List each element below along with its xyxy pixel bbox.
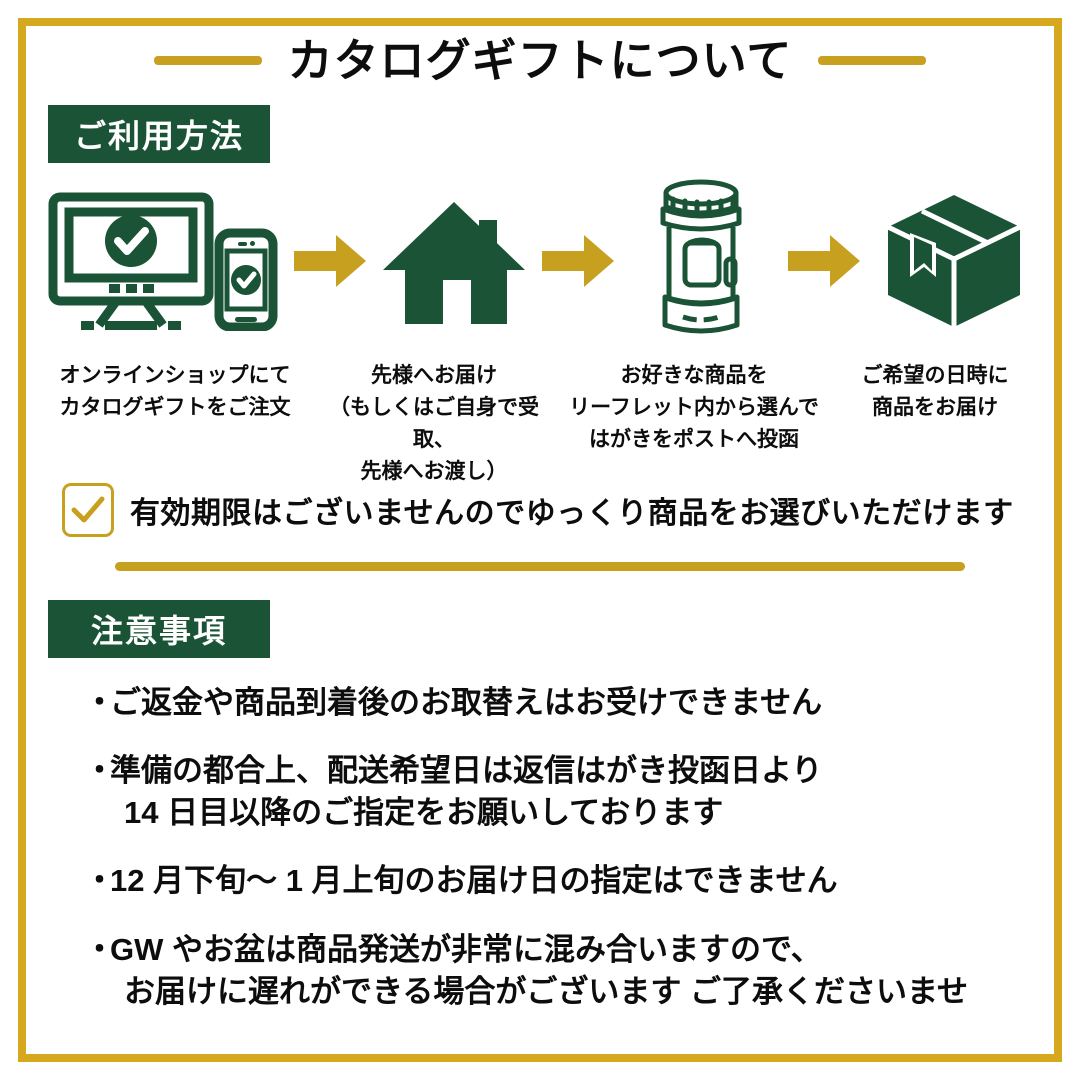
step-icon-online-order (40, 178, 286, 348)
note-4-line-2: お届けに遅れができる場合がございます ご了承くださいませ (110, 971, 968, 1013)
title-dash-left-icon (154, 56, 262, 65)
validity-note-text: 有効期限はございませんのでゆっくり商品をお選びいただけます (130, 488, 1014, 532)
step-caption-3-line-1: お好きな商品を (621, 364, 768, 387)
section-badge-notes-label: 注意事項 (91, 606, 227, 652)
note-bullet: ・ (84, 750, 110, 792)
step-icon-package (868, 178, 1040, 348)
step-arrow-1 (286, 233, 374, 294)
postbox-icon (649, 177, 753, 350)
package-box-icon (884, 191, 1024, 336)
note-text-1: ご返金や商品到着後のお取替えはお受けできません (110, 682, 822, 724)
arrow-right-icon (542, 233, 614, 294)
arrow-right-icon (788, 233, 860, 294)
note-text-3: 12 月下旬〜 1 月上旬のお届け日の指定はできません (110, 860, 838, 902)
step-caption-2-line-1: 先様へお届け (371, 364, 497, 387)
step-icon-postbox (622, 178, 780, 348)
note-2-line-2: 14 日目以降のご指定をお願いしております (110, 792, 822, 834)
note-bullet: ・ (84, 682, 110, 724)
step-caption-4: ご希望の日時に 商品をお届け (830, 360, 1040, 424)
step-caption-4-line-1: ご希望の日時に (862, 364, 1009, 387)
note-4-line-1: GW やお盆は商品発送が非常に混み合いますので、 (110, 929, 968, 971)
section-badge-howto: ご利用方法 (48, 105, 270, 163)
note-text-2: 準備の都合上、配送希望日は返信はがき投函日より 14 日目以降のご指定をお願いし… (110, 750, 822, 834)
arrow-right-icon (294, 233, 366, 294)
step-caption-3-line-2: リーフレット内から選んで (569, 396, 819, 419)
list-item: ・ ご返金や商品到着後のお取替えはお受けできません (84, 682, 1014, 724)
step-arrow-3 (780, 233, 868, 294)
howto-steps-captions: オンラインショップにて カタログギフトをご注文 先様へお届け （もしくはご自身で… (40, 360, 1040, 488)
list-item: ・ 12 月下旬〜 1 月上旬のお届け日の指定はできません (84, 860, 1014, 902)
step-caption-1-line-1: オンラインショップにて (60, 364, 291, 387)
step-caption-1-line-2: カタログギフトをご注文 (60, 396, 291, 419)
page-title-row: カタログギフトについて (0, 38, 1080, 83)
step-caption-2-line-2: （もしくはご自身で受取、 (329, 396, 539, 451)
step-icon-delivery-home (374, 178, 534, 348)
note-bullet: ・ (84, 929, 110, 971)
section-divider (115, 562, 965, 571)
list-item: ・ 準備の都合上、配送希望日は返信はがき投函日より 14 日目以降のご指定をお願… (84, 750, 1014, 834)
title-dash-right-icon (818, 56, 926, 65)
checkbox-check-icon (62, 483, 114, 537)
section-badge-notes: 注意事項 (48, 600, 270, 658)
notes-list: ・ ご返金や商品到着後のお取替えはお受けできません ・ 準備の都合上、配送希望日… (84, 682, 1014, 1039)
note-3-line-1: 12 月下旬〜 1 月上旬のお届け日の指定はできません (110, 860, 838, 902)
step-caption-1: オンラインショップにて カタログギフトをご注文 (40, 360, 310, 424)
monitor-smartphone-check-icon (47, 191, 279, 336)
note-bullet: ・ (84, 860, 110, 902)
step-caption-2: 先様へお届け （もしくはご自身で受取、 先様へお渡し） (310, 360, 558, 488)
note-text-4: GW やお盆は商品発送が非常に混み合いますので、 お届けに遅れができる場合がござ… (110, 929, 968, 1013)
page-title: カタログギフトについて (288, 38, 793, 83)
howto-steps-icons (40, 178, 1040, 348)
list-item: ・ GW やお盆は商品発送が非常に混み合いますので、 お届けに遅れができる場合が… (84, 929, 1014, 1013)
step-caption-3-line-3: はがきをポストへ投函 (589, 428, 799, 451)
step-caption-3: お好きな商品を リーフレット内から選んで はがきをポストへ投函 (558, 360, 830, 456)
house-icon (383, 198, 525, 329)
catalog-gift-info-page: カタログギフトについて ご利用方法 (0, 0, 1080, 1080)
step-arrow-2 (534, 233, 622, 294)
note-2-line-1: 準備の都合上、配送希望日は返信はがき投函日より (110, 750, 822, 792)
step-caption-4-line-2: 商品をお届け (872, 396, 998, 419)
step-caption-2-line-3: 先様へお渡し） (361, 460, 508, 483)
validity-note: 有効期限はございませんのでゆっくり商品をお選びいただけます (62, 483, 1014, 537)
section-badge-howto-label: ご利用方法 (74, 111, 244, 157)
note-1-line-1: ご返金や商品到着後のお取替えはお受けできません (110, 682, 822, 724)
